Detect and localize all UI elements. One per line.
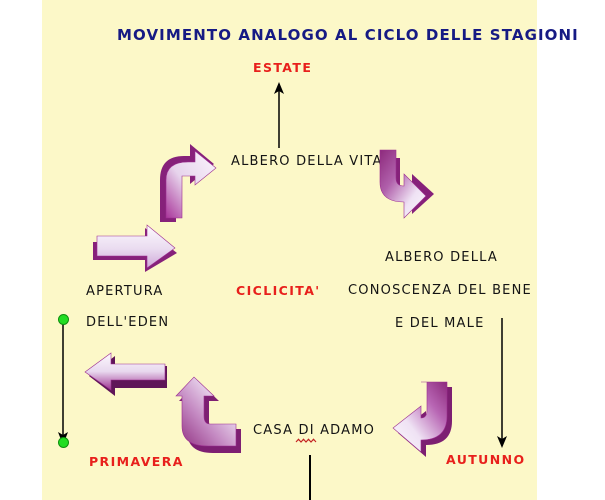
cycle-arrow-bend-down-right[interactable] (378, 148, 456, 230)
page-title: MOVIMENTO ANALOGO AL CICLO DELLE STAGION… (117, 28, 579, 43)
cycle-arrow-straight-right[interactable] (91, 224, 179, 272)
cycle-arrow-curved-up-right[interactable] (158, 142, 224, 224)
connector-autunno-down-arrow[interactable] (491, 318, 513, 448)
node-albero-della-conoscenza-line2: CONOSCENZA DEL BENE (348, 284, 532, 297)
slide-canvas: MOVIMENTO ANALOGO AL CICLO DELLE STAGION… (0, 0, 605, 500)
node-casa-di-adamo: CASA DI ADAMO (253, 424, 375, 437)
connector-estate-up-arrow[interactable] (268, 82, 290, 148)
cycle-arrow-j-down-left[interactable] (389, 382, 465, 458)
cycle-arrow-uturn-up-left[interactable] (176, 376, 252, 454)
selection-handle-bottom[interactable] (58, 437, 69, 448)
node-apertura-line1: APERTURA (86, 285, 164, 298)
node-albero-della-vita: ALBERO DELLA VITA (231, 155, 383, 168)
spellcheck-squiggle-icon (296, 438, 318, 444)
connector-primavera-down-arrow[interactable] (52, 318, 74, 445)
node-albero-della-conoscenza-line3: E DEL MALE (395, 317, 485, 330)
connector-casa-adamo-line[interactable] (309, 455, 311, 500)
season-label-estate: ESTATE (253, 62, 312, 75)
cycle-arrow-straight-left[interactable] (81, 352, 169, 396)
season-label-primavera: PRIMAVERA (89, 456, 184, 469)
node-apertura-line2: DELL'EDEN (86, 316, 169, 329)
node-albero-della-conoscenza-line1: ALBERO DELLA (385, 251, 498, 264)
selection-handle-top[interactable] (58, 314, 69, 325)
center-label-ciclicita: CICLICITA' (236, 285, 321, 298)
